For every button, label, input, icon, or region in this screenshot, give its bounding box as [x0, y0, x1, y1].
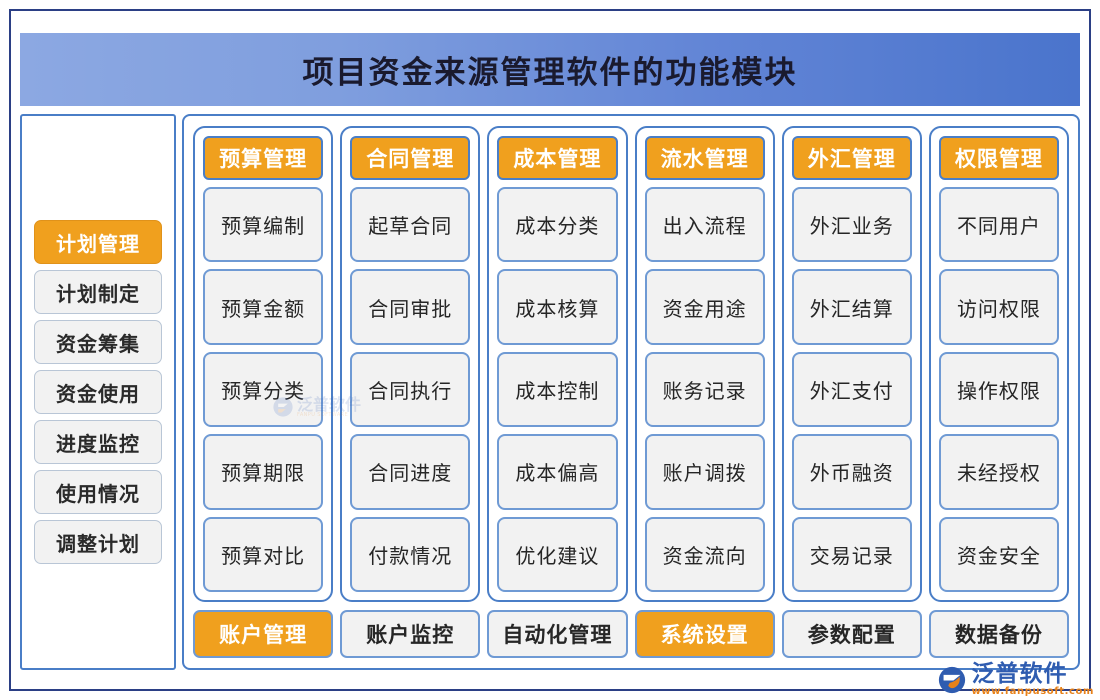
sidebar-item-fund-raising[interactable]: 资金筹集	[34, 320, 162, 364]
sidebar-item-adjust-plan[interactable]: 调整计划	[34, 520, 162, 564]
column-item[interactable]: 成本偏高	[497, 434, 617, 509]
module-column-permission: 权限管理 不同用户 访问权限 操作权限 未经授权 资金安全	[929, 126, 1069, 602]
column-header[interactable]: 外汇管理	[792, 136, 912, 180]
bottom-item-data-backup[interactable]: 数据备份	[929, 610, 1069, 658]
brand-text: 泛普软件 www.fanpusoft.com	[971, 662, 1094, 697]
column-item[interactable]: 资金安全	[939, 517, 1059, 592]
sidebar-item-plan-management[interactable]: 计划管理	[34, 220, 162, 264]
brand-logo: 泛普软件 www.fanpusoft.com	[937, 662, 1094, 697]
column-item[interactable]: 操作权限	[939, 352, 1059, 427]
column-item[interactable]: 预算期限	[203, 434, 323, 509]
column-item[interactable]: 预算金额	[203, 269, 323, 344]
column-item[interactable]: 起草合同	[350, 187, 470, 262]
brand-url: www.fanpusoft.com	[971, 687, 1094, 698]
column-header[interactable]: 权限管理	[939, 136, 1059, 180]
column-header[interactable]: 合同管理	[350, 136, 470, 180]
column-item[interactable]: 外汇结算	[792, 269, 912, 344]
sidebar-item-label: 计划管理	[56, 228, 140, 257]
bottom-item-parameter-config[interactable]: 参数配置	[782, 610, 922, 658]
sidebar-item-label: 使用情况	[56, 478, 140, 507]
bottom-item-account-management[interactable]: 账户管理	[193, 610, 333, 658]
column-item[interactable]: 合同执行	[350, 352, 470, 427]
module-column-contract: 合同管理 起草合同 合同审批 合同执行 合同进度 付款情况	[340, 126, 480, 602]
bottom-item-system-settings[interactable]: 系统设置	[635, 610, 775, 658]
column-item[interactable]: 账务记录	[645, 352, 765, 427]
column-header[interactable]: 成本管理	[497, 136, 617, 180]
column-item[interactable]: 出入流程	[645, 187, 765, 262]
sidebar-item-label: 资金使用	[56, 378, 140, 407]
column-item[interactable]: 成本分类	[497, 187, 617, 262]
sidebar-item-label: 资金筹集	[56, 328, 140, 357]
column-item[interactable]: 预算分类	[203, 352, 323, 427]
fanpu-logo-icon	[937, 665, 967, 695]
bottom-item-automation-management[interactable]: 自动化管理	[487, 610, 627, 658]
module-column-budget: 预算管理 预算编制 预算金额 预算分类 预算期限 预算对比	[193, 126, 333, 602]
sidebar-item-progress-monitoring[interactable]: 进度监控	[34, 420, 162, 464]
diagram-root: 项目资金来源管理软件的功能模块 计划管理 计划制定 资金筹集 资金使用 进度监控…	[0, 0, 1100, 700]
column-item[interactable]: 成本控制	[497, 352, 617, 427]
title-banner: 项目资金来源管理软件的功能模块	[20, 33, 1080, 106]
column-item[interactable]: 成本核算	[497, 269, 617, 344]
main-board: 预算管理 预算编制 预算金额 预算分类 预算期限 预算对比 合同管理 起草合同 …	[182, 114, 1080, 670]
brand-name: 泛普软件	[971, 662, 1094, 686]
column-item[interactable]: 外汇支付	[792, 352, 912, 427]
module-column-cost: 成本管理 成本分类 成本核算 成本控制 成本偏高 优化建议	[487, 126, 627, 602]
page-title: 项目资金来源管理软件的功能模块	[303, 47, 798, 92]
sidebar-panel: 计划管理 计划制定 资金筹集 资金使用 进度监控 使用情况 调整计划	[20, 114, 176, 670]
column-header[interactable]: 流水管理	[645, 136, 765, 180]
column-item[interactable]: 预算编制	[203, 187, 323, 262]
column-item[interactable]: 预算对比	[203, 517, 323, 592]
sidebar-item-label: 调整计划	[56, 528, 140, 557]
module-column-forex: 外汇管理 外汇业务 外汇结算 外汇支付 外币融资 交易记录	[782, 126, 922, 602]
bottom-item-account-monitoring[interactable]: 账户监控	[340, 610, 480, 658]
sidebar-item-label: 进度监控	[56, 428, 140, 457]
column-item[interactable]: 付款情况	[350, 517, 470, 592]
column-item[interactable]: 外汇业务	[792, 187, 912, 262]
column-item[interactable]: 外币融资	[792, 434, 912, 509]
sidebar-item-label: 计划制定	[56, 278, 140, 307]
column-item[interactable]: 资金流向	[645, 517, 765, 592]
column-header[interactable]: 预算管理	[203, 136, 323, 180]
sidebar-item-usage-status[interactable]: 使用情况	[34, 470, 162, 514]
module-column-transaction: 流水管理 出入流程 资金用途 账务记录 账户调拨 资金流向	[635, 126, 775, 602]
column-item[interactable]: 不同用户	[939, 187, 1059, 262]
sidebar-item-fund-usage[interactable]: 资金使用	[34, 370, 162, 414]
column-item[interactable]: 未经授权	[939, 434, 1059, 509]
module-columns: 预算管理 预算编制 预算金额 预算分类 预算期限 预算对比 合同管理 起草合同 …	[193, 126, 1069, 602]
column-item[interactable]: 交易记录	[792, 517, 912, 592]
sidebar-item-plan-formulation[interactable]: 计划制定	[34, 270, 162, 314]
column-item[interactable]: 账户调拨	[645, 434, 765, 509]
bottom-module-row: 账户管理 账户监控 自动化管理 系统设置 参数配置 数据备份	[193, 610, 1069, 658]
column-item[interactable]: 合同审批	[350, 269, 470, 344]
column-item[interactable]: 资金用途	[645, 269, 765, 344]
column-item[interactable]: 优化建议	[497, 517, 617, 592]
column-item[interactable]: 访问权限	[939, 269, 1059, 344]
column-item[interactable]: 合同进度	[350, 434, 470, 509]
